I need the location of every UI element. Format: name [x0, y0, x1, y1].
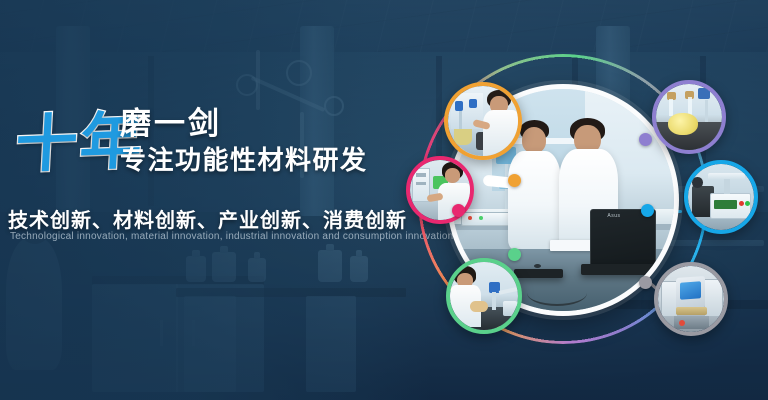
satellite-photo-inner — [658, 266, 724, 332]
center-photo-laptop-brand: Asus — [607, 213, 620, 219]
satellite-instrument-slot — [416, 173, 426, 177]
satellite-person-coat — [483, 110, 518, 156]
satellite-blue-clamp — [469, 99, 477, 109]
satellite-rod — [459, 111, 462, 131]
satellite-keyboard-tray — [676, 307, 706, 315]
satellite-instrument-right — [704, 279, 722, 317]
satellite-blue-clamp — [698, 88, 710, 99]
center-photo-laptop-screen: Asus — [590, 209, 657, 267]
headline-line1: 磨一剑 — [120, 98, 222, 143]
satellite-photo-inner — [448, 86, 518, 156]
node-top-right — [639, 133, 652, 146]
node-bottom-right — [639, 276, 652, 289]
satellite-photo-inner — [656, 84, 722, 150]
satellite-rod — [492, 292, 496, 310]
satellite-photo-inner — [688, 164, 754, 230]
headline-text-block: 十年 磨一剑 专注功能性材料研发 技术创新、材料创新、产业创新、消费创新 Tec… — [0, 96, 420, 192]
node-left — [452, 204, 465, 217]
satellite-instrument-column — [724, 179, 730, 195]
satellite-blue-clamp — [455, 101, 463, 111]
satellite-indicator-led — [745, 201, 750, 206]
satellite-flask-liquid — [454, 129, 472, 144]
node-right — [641, 204, 654, 217]
satellite-person-head — [445, 168, 461, 182]
photo-reaction-flask[interactable] — [652, 80, 726, 154]
satellite-flask-neck — [669, 99, 673, 116]
hero-banner: 十年 磨一剑 专注功能性材料研发 技术创新、材料创新、产业创新、消费创新 Tec… — [0, 0, 768, 400]
satellite-monitor-screen — [680, 281, 701, 300]
satellite-instrument-slot — [416, 182, 426, 186]
tagline-english: Technological innovation, material innov… — [10, 231, 453, 242]
photo-lab-instrument-green-panel[interactable] — [684, 160, 758, 234]
photo-analysis-workstation[interactable] — [654, 262, 728, 336]
node-bottom-left — [508, 248, 521, 261]
center-photo-paper — [550, 240, 594, 251]
satellite-photo-inner — [450, 262, 518, 330]
satellite-green-readout — [714, 200, 736, 209]
satellite-cabinet — [503, 301, 517, 316]
satellite-gloved-hands — [470, 301, 488, 312]
photo-circle-cluster: Asus — [396, 34, 768, 384]
headline-main-line: 十年 磨一剑 专注功能性材料研发 — [0, 96, 420, 192]
headline-line2: 专注功能性材料研发 — [120, 140, 368, 177]
background-left-shade — [0, 0, 430, 400]
node-top-left — [508, 174, 521, 187]
center-photo-keyboard — [514, 269, 563, 278]
center-photo-laptop-base — [581, 264, 661, 275]
satellite-round-flask-yellow — [668, 113, 698, 135]
center-photo-researcher-left-coat — [508, 151, 561, 249]
photo-researcher-distillation[interactable] — [444, 82, 522, 160]
center-photo-researcher-left-head — [522, 127, 546, 154]
center-photo-cable — [527, 280, 587, 306]
satellite-knob — [692, 177, 703, 188]
satellite-rod — [705, 100, 708, 122]
photo-researcher-fume-hood[interactable] — [446, 258, 522, 334]
tagline-chinese: 技术创新、材料创新、产业创新、消费创新 — [8, 204, 407, 233]
